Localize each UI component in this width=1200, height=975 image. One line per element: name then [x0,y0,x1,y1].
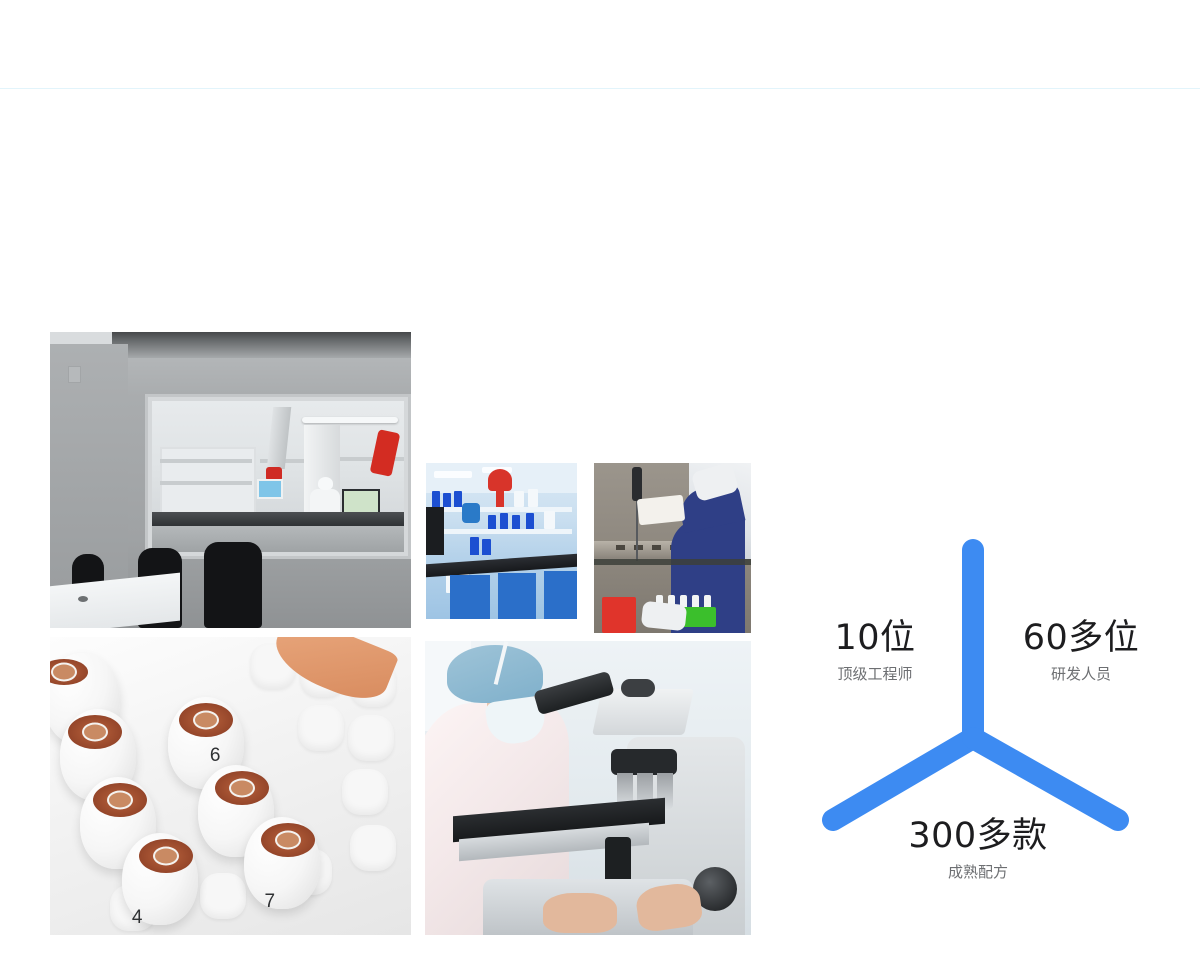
egg-window [215,771,269,805]
technician-head [318,477,333,490]
egg-window [261,823,315,857]
stat-engineers: 10位 顶级工程师 [795,620,955,684]
blue-instrument [462,503,480,523]
photo-pipetting[interactable] [594,463,751,633]
egg-label: 6 [210,745,221,767]
ceiling-light [434,471,472,478]
hood-glass-edge [594,559,751,565]
top-divider [0,88,1200,89]
rail-slot [652,545,661,550]
egg-label: 4 [132,907,143,929]
stat-formulas: 300多款 成熟配方 [878,818,1078,882]
egg-window [179,703,233,737]
foam-cell [348,715,394,761]
dark-equipment [426,507,444,555]
egg-window [50,659,88,685]
stat-formulas-label: 成熟配方 [878,861,1078,882]
reagent-bottle [443,493,451,507]
egg-window [93,783,147,817]
wall-switch [68,366,81,383]
white-bottle [544,511,555,529]
lab-window-frame [145,394,411,559]
white-bottle [528,489,538,507]
rail-slot [616,545,625,550]
foam-cell [342,769,388,815]
stat-formulas-number: 300多款 [878,818,1078,856]
reagent-shelf [430,529,572,534]
inoculated-egg: 7 [244,817,320,909]
bench-cabinet [450,575,490,619]
y-right-arm [973,738,1118,820]
interior-bench [152,512,404,526]
microscope-top-dial [621,679,655,697]
red-equipment [370,429,401,477]
stat-researchers-label: 研发人员 [1000,663,1162,684]
latex-glove [641,601,687,631]
reagent-bottle [512,515,520,529]
stat-researchers: 60多位 研发人员 [1000,620,1162,684]
page-root: 6 4 7 [0,0,1200,975]
reagent-bottle [432,491,440,507]
reagent-bottle [488,515,496,529]
reagent-bottle [482,539,491,555]
egg-label: 7 [265,891,276,913]
pipette [632,467,642,501]
bench-cabinet [498,573,536,619]
photo-microscope[interactable] [425,641,751,935]
foam-cell [200,873,246,919]
reagent-bottle [526,513,534,529]
lab-window-glass [152,401,404,552]
reagent-bottle [470,537,479,555]
white-bottle [514,491,524,507]
stat-engineers-label: 顶级工程师 [795,663,955,684]
interior-cabinets [152,526,404,552]
ceiling-light-tube [302,417,398,423]
office-chair [204,542,262,628]
bench-cabinet [544,571,577,619]
photo-lab-bench[interactable] [426,463,577,619]
red-tube-rack [602,597,636,633]
interior-shelf [160,459,252,463]
inoculated-egg: 4 [122,833,198,925]
stat-engineers-number: 10位 [795,620,955,658]
wall-panel-display [257,479,283,499]
egg-window [68,715,122,749]
interior-shelf [160,481,252,485]
stat-researchers-number: 60多位 [1000,620,1162,658]
foam-cell [298,705,344,751]
egg-window [139,839,193,873]
reagent-bottle [454,491,462,507]
photo-lab-window[interactable] [50,332,411,628]
table-grommet [78,596,88,602]
researcher-hand-left [543,893,617,933]
y-left-arm [833,738,973,820]
reagent-bottle [500,513,508,529]
photo-egg-tray[interactable]: 6 4 7 [50,637,411,935]
white-holder [637,495,685,526]
objective-turret [611,749,677,775]
red-overhead-fixture [488,469,512,491]
foam-cell [350,825,396,871]
